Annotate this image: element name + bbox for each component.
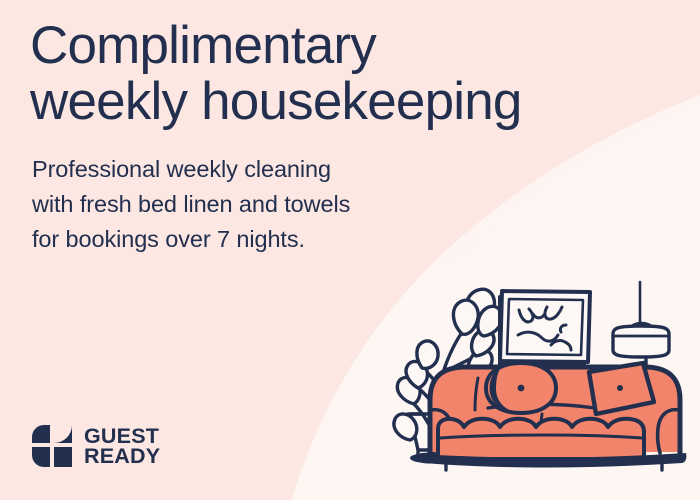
brand-wordmark: GUEST READY [84,426,160,466]
copy-block: Complimentary weekly housekeeping Profes… [30,18,630,257]
guestready-mark-icon [31,424,73,468]
description-text: Professional weekly cleaning with fresh … [32,152,630,257]
living-room-illustration [390,262,700,500]
promo-card: Complimentary weekly housekeeping Profes… [0,0,700,500]
page-title: Complimentary weekly housekeeping [30,18,630,130]
brand-wordmark-line2: READY [84,446,160,466]
brand-logo: GUEST READY [31,424,160,468]
brand-wordmark-line1: GUEST [84,426,160,446]
